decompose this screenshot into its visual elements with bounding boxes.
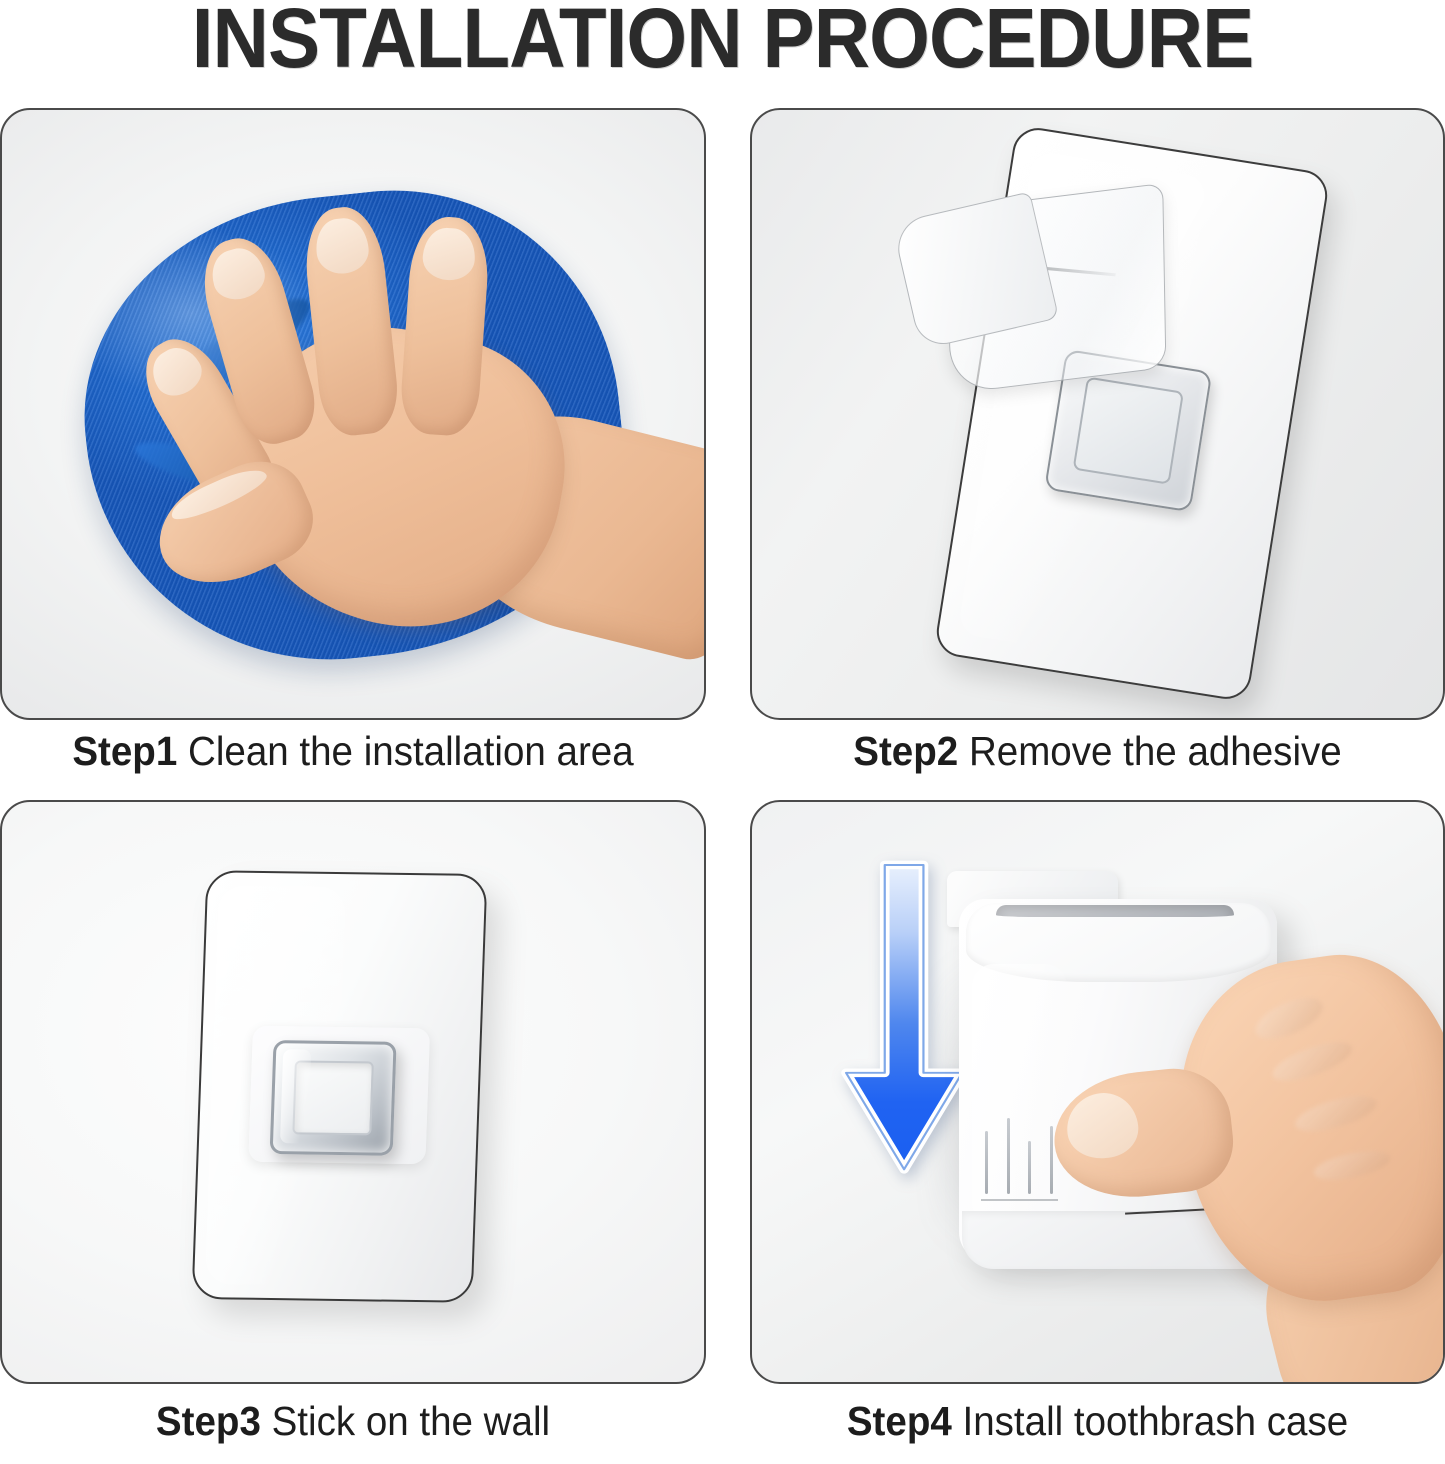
slot-divider xyxy=(985,1131,988,1193)
step-4-caption: Step4 Install toothbrash case xyxy=(771,1398,1424,1445)
steps-grid: Step1 Clean the installation area Step2 … xyxy=(0,0,1445,1464)
step-2-number: Step2 xyxy=(853,728,958,774)
step-1-number: Step1 xyxy=(72,728,177,774)
step-1-illustration xyxy=(2,110,704,718)
case-cavity xyxy=(996,905,1234,917)
slot-divider xyxy=(1028,1141,1031,1194)
step-1-cell xyxy=(0,108,706,720)
hand xyxy=(156,207,675,681)
step-3-caption: Step3 Stick on the wall xyxy=(21,1398,685,1445)
step-2-panel xyxy=(750,108,1445,720)
slot-base-line xyxy=(981,1199,1059,1201)
hook-highlight xyxy=(280,1049,311,1143)
thumbnail xyxy=(1064,1090,1142,1161)
wall-mounted-adhesive xyxy=(191,870,487,1303)
mount-body xyxy=(191,870,487,1303)
slot-divider xyxy=(1050,1126,1053,1194)
fingernail xyxy=(314,217,371,277)
step-4-cell xyxy=(750,800,1445,1384)
step-1-caption: Step1 Clean the installation area xyxy=(21,728,685,775)
step-2-caption: Step2 Remove the adhesive xyxy=(771,728,1424,775)
step-2-cell xyxy=(750,108,1445,720)
fingernail xyxy=(206,243,269,305)
slot-divider xyxy=(1007,1118,1010,1193)
knuckle-crease xyxy=(1312,1145,1393,1185)
step-3-number: Step3 xyxy=(156,1398,261,1444)
knuckle-crease xyxy=(1250,990,1329,1048)
fingernail xyxy=(421,226,476,282)
step-4-panel xyxy=(750,800,1445,1384)
hand xyxy=(1139,930,1445,1384)
hook-plate xyxy=(248,1025,430,1163)
chrome-hook xyxy=(269,1039,396,1155)
step-4-description: Install toothbrash case xyxy=(963,1398,1349,1444)
step-1-description: Clean the installation area xyxy=(188,728,634,774)
knuckle-crease xyxy=(1268,1035,1356,1089)
step-3-panel xyxy=(0,800,706,1384)
adhesive-mount xyxy=(933,125,1331,703)
step-3-description: Stick on the wall xyxy=(272,1398,550,1444)
hook-inner xyxy=(1072,377,1184,485)
step-1-panel xyxy=(0,108,706,720)
fingernail xyxy=(144,340,208,403)
knuckle-crease xyxy=(1293,1089,1381,1138)
step-3-cell xyxy=(0,800,706,1384)
step-2-description: Remove the adhesive xyxy=(969,728,1342,774)
step-4-number: Step4 xyxy=(847,1398,952,1444)
